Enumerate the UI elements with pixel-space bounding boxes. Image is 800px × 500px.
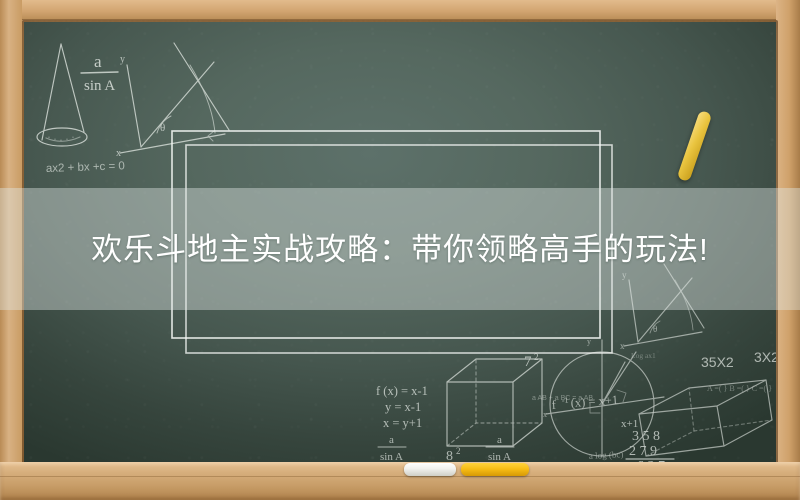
svg-text:y: y [587,337,591,346]
angle-label-left: θ [160,122,165,134]
frame-top-bevel [0,0,800,20]
svg-text:sin A: sin A [84,78,115,94]
svg-text:x = y+1: x = y+1 [383,416,422,430]
svg-text:3 5 8: 3 5 8 [632,429,660,444]
set-expressions: A =( } B =( } C =( } [707,384,772,393]
fraction-bar-1 [81,72,118,73]
svg-text:a log (bc): a log (bc) [589,449,624,461]
svg-text:a: a [497,434,502,446]
log-small-expression: Log ax1 [631,351,656,360]
svg-text:A =( } B =( } C =( }: A =( } B =( } C =( } [707,384,772,393]
svg-text:ax2 + bx +c = 0: ax2 + bx +c = 0 [46,160,125,175]
svg-text:a: a [389,434,394,446]
svg-text:7: 7 [524,354,532,370]
multiplication-expressions: 35X2 3X2 [701,349,776,370]
eight-squared: 8 2 [446,446,461,462]
svg-text:x: x [543,410,547,419]
svg-text:a: a [94,52,102,71]
svg-text:sin A: sin A [488,451,511,462]
svg-text:2 7 9: 2 7 9 [629,444,657,459]
svg-text:2: 2 [534,352,539,362]
quadratic-equation: ax2 + bx +c = 0 [46,160,125,175]
svg-text:Log ax1: Log ax1 [631,351,656,360]
blackboard-poster: a sin A ax2 + bx +c = 0 [0,0,800,500]
law-of-sines-formula-3: a sin A [488,434,511,462]
seven-squared: 7 2 [524,352,539,370]
function-equations: f (x) = x-1 y = x-1 x = y+1 [376,384,428,430]
svg-text:2: 2 [456,446,461,456]
vector-sum-expression: a AB + a BC = a AB [532,395,593,402]
cone-drawing [37,44,87,146]
yellow-chalk [461,463,529,476]
axis-label-y-left: y [120,54,125,65]
white-chalk [404,463,456,476]
log-expression: a log (bc) [589,449,624,461]
law-of-sines-formula-2: a sin A [380,434,403,462]
page-title: 欢乐斗地主实战攻略：带你领略高手的玩法! [0,188,800,310]
svg-text:8: 8 [446,449,453,462]
svg-text:θ: θ [653,324,657,334]
axis-label-x-left: x [116,148,121,159]
chalk-tray [0,462,800,500]
svg-text:35X2: 35X2 [701,354,734,370]
svg-text:sin A: sin A [380,451,403,462]
svg-text:3X2: 3X2 [754,349,776,365]
svg-text:x: x [620,341,625,351]
svg-text:y = x-1: y = x-1 [385,400,421,414]
angle-axes-drawing-left [120,43,229,153]
cube-drawing-center [447,359,542,446]
svg-text:f (x) = x-1: f (x) = x-1 [376,384,428,398]
svg-text:a AB + a BC = a AB: a AB + a BC = a AB [532,395,593,402]
column-addition: x+1 3 5 8 2 7 9 6 3 7 [621,418,665,462]
